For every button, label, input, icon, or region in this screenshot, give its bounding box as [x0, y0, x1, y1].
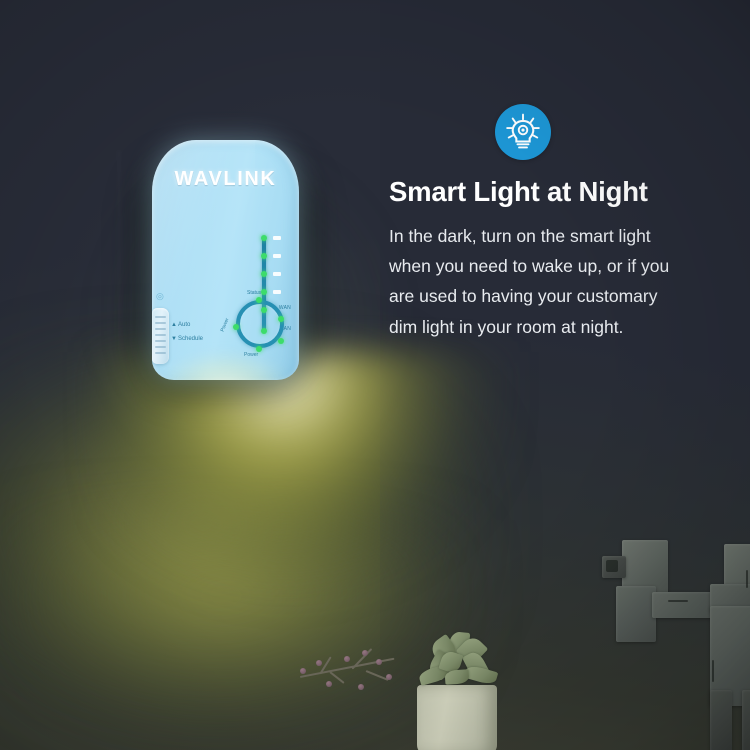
ring-led: [278, 316, 284, 322]
led-tick-mark: [273, 236, 281, 240]
panel-title: Smart Light at Night: [389, 177, 689, 207]
feature-panel: Smart Light at Night In the dark, turn o…: [389, 104, 689, 342]
scene-root: WAVLINK WAN LAN Status Power Power: [0, 0, 750, 750]
location-pin-icon: ◎: [156, 292, 163, 301]
led-tick-mark: [273, 290, 281, 294]
wooden-block-toy: [560, 540, 750, 750]
plant-pot: [417, 685, 497, 750]
led-indicator: [261, 289, 267, 295]
ring-label-power-left: Power: [220, 317, 231, 332]
brand-logo: WAVLINK: [152, 168, 299, 191]
wavlink-night-light-device[interactable]: WAVLINK WAN LAN Status Power Power: [152, 140, 299, 380]
ring-led: [233, 324, 239, 330]
light-bulb-icon: [495, 104, 551, 160]
led-label-wan: WAN: [279, 305, 291, 311]
led-indicator: [261, 235, 267, 241]
mode-label-auto: Auto: [178, 322, 190, 328]
panel-body-text: In the dark, turn on the smart light whe…: [389, 221, 681, 341]
succulent-plant: [427, 632, 489, 690]
device-light-emitter: [152, 340, 299, 380]
led-tick-mark: [273, 272, 281, 276]
dried-sprig: [300, 640, 430, 710]
mode-mark-auto: ▲: [171, 322, 177, 328]
ring-led: [256, 297, 262, 303]
ring-label-status: Status: [247, 290, 261, 296]
led-indicator: [261, 271, 267, 277]
led-indicator: [261, 253, 267, 259]
led-tick-mark: [273, 254, 281, 258]
